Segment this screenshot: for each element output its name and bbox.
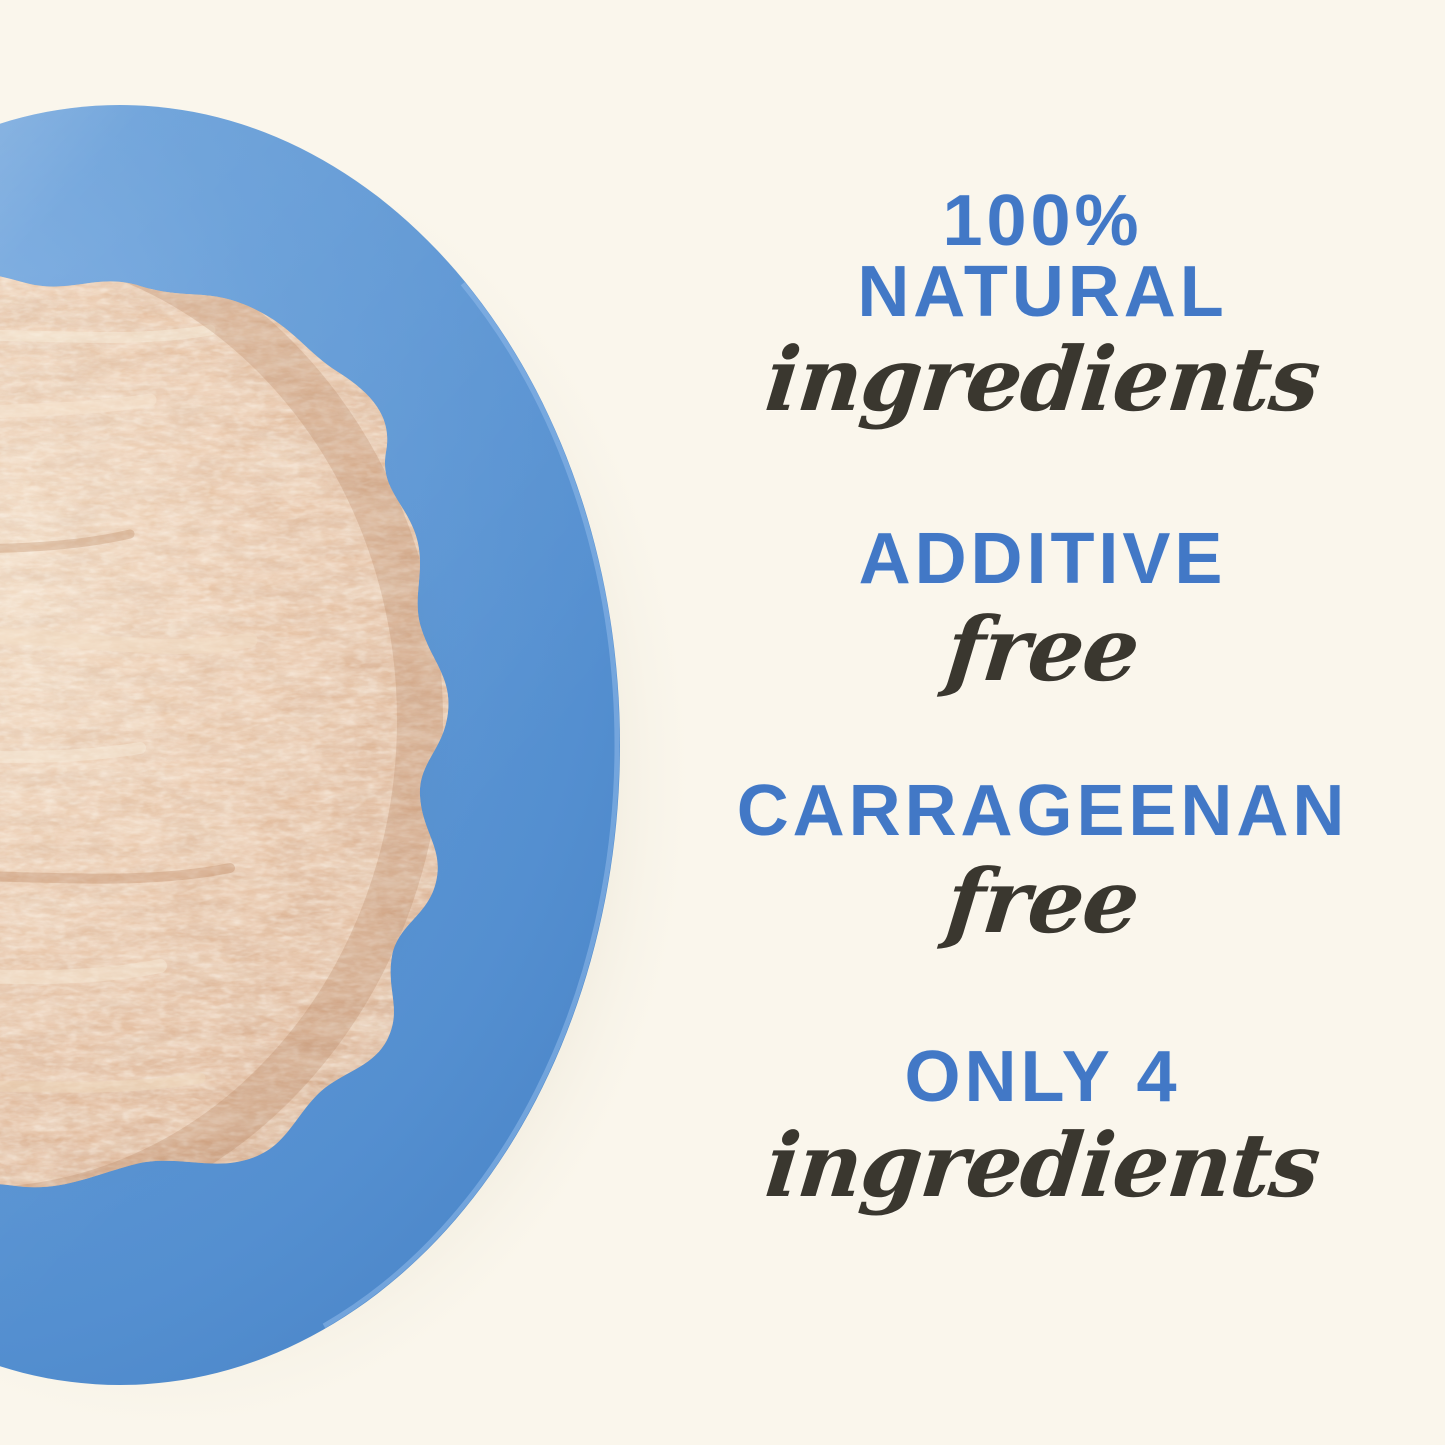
- claim-only4-headline: ONLY 4: [640, 1042, 1445, 1113]
- claim-additive-headline: ADDITIVE: [640, 524, 1445, 595]
- claim-carrageenan-headline: CARRAGEENAN: [640, 776, 1445, 847]
- claim-additive-script: free: [635, 605, 1445, 693]
- claim-only-4-ingredients: ONLY 4 ingredients: [640, 1042, 1445, 1209]
- claim-only4-script: ingredients: [635, 1121, 1445, 1209]
- claim-natural-line-1: 100%: [640, 186, 1445, 257]
- claim-carrageenan-script: free: [635, 857, 1445, 945]
- claim-natural-ingredients: 100% NATURAL ingredients: [640, 186, 1445, 423]
- product-claims-image: 100% NATURAL ingredients ADDITIVE free C…: [0, 0, 1445, 1445]
- claim-only4-line-1: ONLY 4: [640, 1042, 1445, 1113]
- claim-natural-script: ingredients: [635, 335, 1445, 423]
- claim-natural-line-2: NATURAL: [640, 257, 1445, 328]
- claim-carrageenan-line-1: CARRAGEENAN: [640, 776, 1445, 847]
- claim-additive-line-1: ADDITIVE: [640, 524, 1445, 595]
- claim-natural-headline: 100% NATURAL: [640, 186, 1445, 327]
- claims-column: 100% NATURAL ingredients ADDITIVE free C…: [640, 0, 1445, 1445]
- claim-additive-free: ADDITIVE free: [640, 524, 1445, 693]
- claim-carrageenan-free: CARRAGEENAN free: [640, 776, 1445, 945]
